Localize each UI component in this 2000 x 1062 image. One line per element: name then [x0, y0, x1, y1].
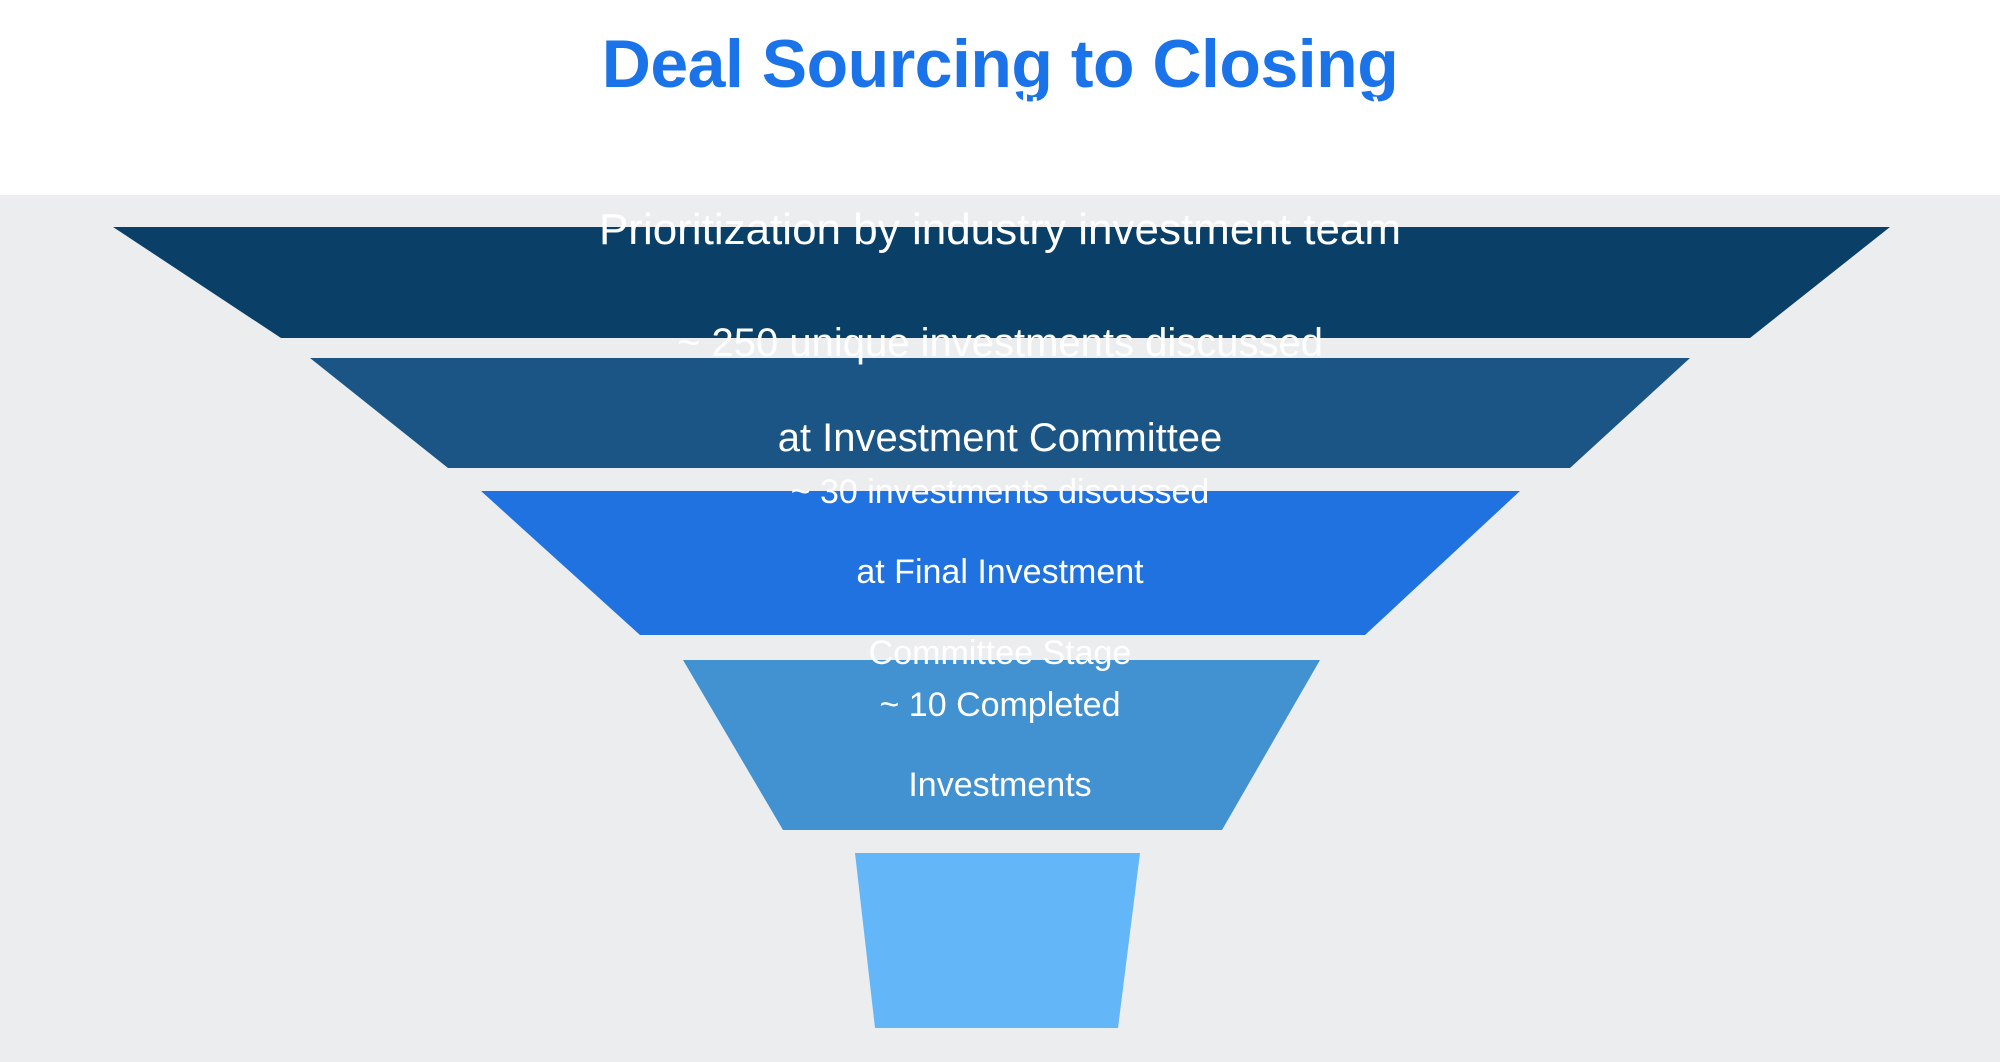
funnel-segment-1[interactable]: [113, 227, 1890, 338]
funnel-segment-3[interactable]: [481, 491, 1520, 635]
funnel-segment-2[interactable]: [310, 358, 1690, 468]
funnel-segment-5[interactable]: [855, 853, 1140, 1028]
page-title: Deal Sourcing to Closing: [0, 30, 2000, 98]
funnel-segment-4[interactable]: [683, 660, 1320, 830]
funnel-shapes: [0, 195, 2000, 1062]
header-band: Deal Sourcing to Closing: [0, 0, 2000, 195]
funnel-chart: ~ 1,000 investments evaluated in a typic…: [0, 195, 2000, 1062]
slide-root: Deal Sourcing to Closing ~ 1,000 investm…: [0, 0, 2000, 1062]
